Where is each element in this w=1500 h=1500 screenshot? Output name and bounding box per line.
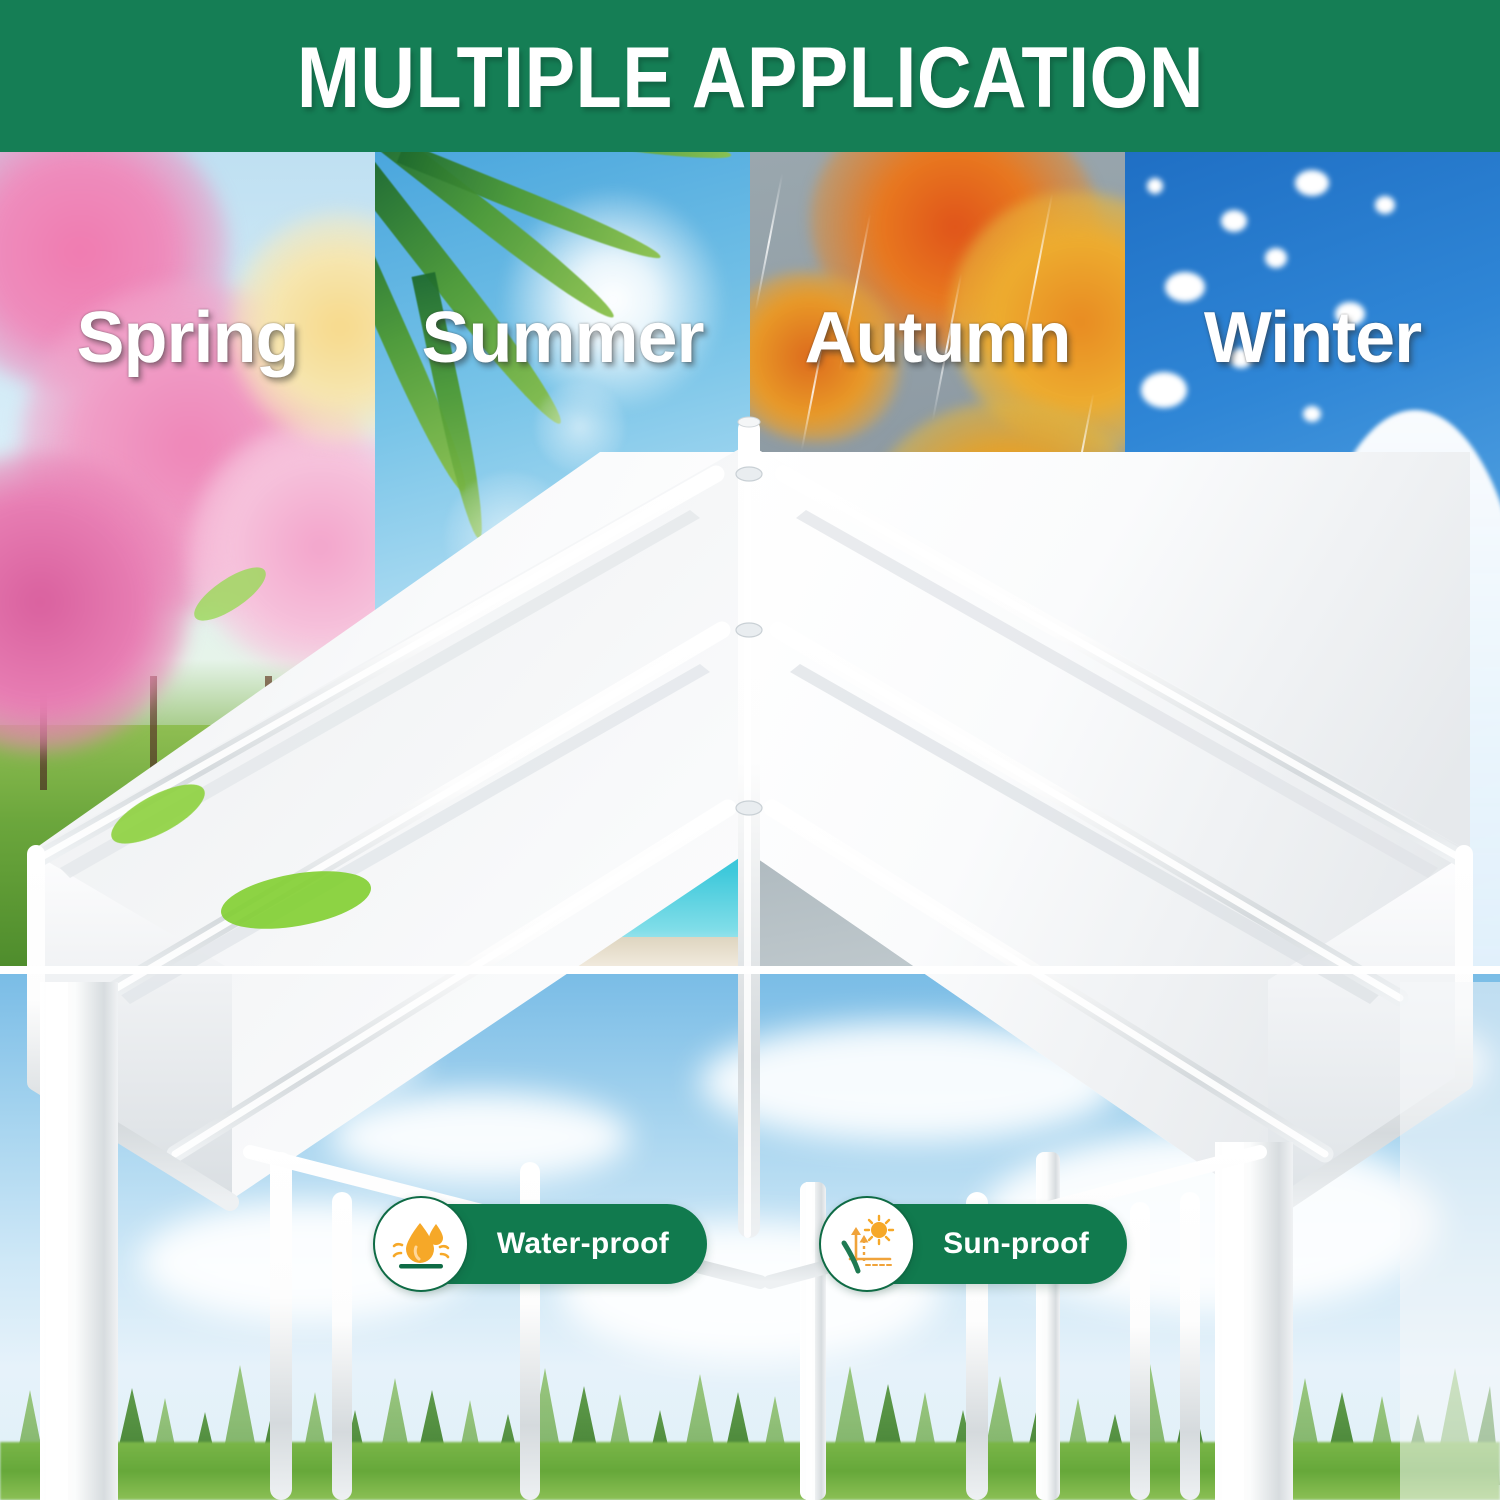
season-panel-autumn: Autumn bbox=[750, 152, 1125, 970]
snowflake bbox=[1375, 196, 1395, 214]
cloud bbox=[330, 1092, 630, 1182]
product-marketing-image: MULTIPLE APPLICATION Spring bbox=[0, 0, 1500, 1500]
raindrop bbox=[888, 453, 915, 581]
season-label-autumn: Autumn bbox=[750, 302, 1125, 374]
snowflake bbox=[1221, 210, 1247, 232]
snowflake bbox=[1303, 406, 1321, 422]
raindrop bbox=[1049, 753, 1074, 871]
season-panel-spring: Spring bbox=[0, 152, 375, 970]
season-label-summer: Summer bbox=[375, 302, 750, 374]
page-title: MULTIPLE APPLICATION bbox=[296, 35, 1203, 121]
snowflake bbox=[1321, 652, 1339, 668]
badge-label-water-proof: Water-proof bbox=[497, 1227, 669, 1261]
lens-flare bbox=[605, 552, 675, 622]
rain-overlay bbox=[750, 152, 1125, 970]
water-drop-glyph bbox=[390, 1213, 452, 1275]
frosted-tree bbox=[1155, 670, 1305, 970]
header-banner: MULTIPLE APPLICATION bbox=[0, 0, 1500, 152]
raindrop bbox=[755, 173, 784, 311]
raindrop bbox=[1068, 393, 1095, 521]
sun-rays-icon bbox=[819, 1196, 915, 1292]
raindrop bbox=[868, 793, 891, 901]
tree-trunk bbox=[265, 676, 272, 791]
snowflake bbox=[1295, 170, 1329, 196]
season-label-winter: Winter bbox=[1125, 302, 1500, 374]
season-panel-summer: Summer bbox=[375, 152, 750, 970]
season-label-spring: Spring bbox=[0, 302, 375, 374]
cloud bbox=[1190, 1012, 1490, 1112]
seasons-strip: Spring Summer bbox=[0, 152, 1500, 970]
lens-flare bbox=[535, 382, 625, 472]
section-divider bbox=[0, 966, 1500, 974]
snowflake bbox=[1265, 248, 1287, 268]
badge-water-proof[interactable]: Water-proof bbox=[373, 1196, 707, 1292]
water-drop-icon bbox=[373, 1196, 469, 1292]
snowflake bbox=[1147, 178, 1163, 194]
raindrop bbox=[779, 583, 804, 701]
snowflake bbox=[1275, 512, 1297, 532]
raindrop bbox=[975, 533, 1004, 671]
snowflake bbox=[1237, 622, 1257, 640]
cloud bbox=[700, 1022, 1120, 1142]
sun-proof-glyph bbox=[836, 1213, 898, 1275]
feature-badges: Water-proof bbox=[0, 1196, 1500, 1316]
grass-foreground bbox=[0, 1442, 1500, 1500]
snowflake bbox=[1151, 572, 1179, 596]
spring-grass bbox=[0, 725, 375, 970]
season-panel-winter: Winter bbox=[1125, 152, 1500, 970]
cloud bbox=[60, 1002, 420, 1112]
raindrop bbox=[947, 713, 976, 851]
snowflake bbox=[1185, 462, 1219, 490]
snowflake bbox=[1195, 708, 1229, 734]
snowflake bbox=[1165, 272, 1205, 302]
badge-sun-proof[interactable]: Sun-proof bbox=[819, 1196, 1127, 1292]
lens-flare bbox=[445, 472, 575, 602]
snowflake bbox=[1141, 372, 1187, 408]
badge-label-sun-proof: Sun-proof bbox=[943, 1227, 1089, 1261]
